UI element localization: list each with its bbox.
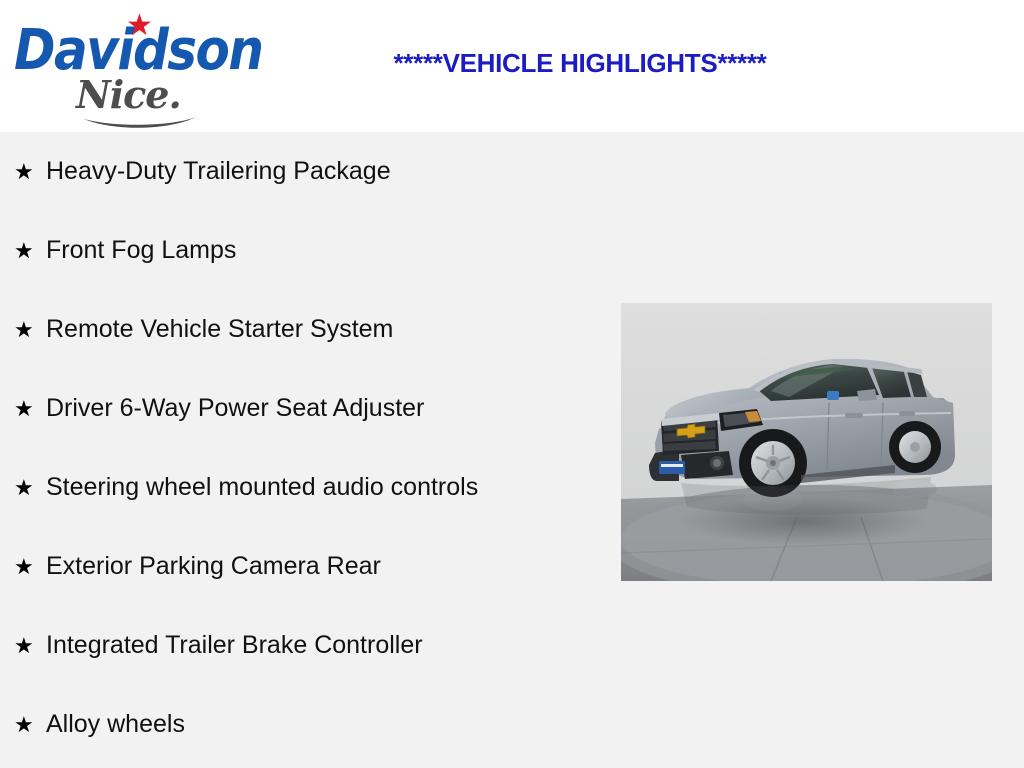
swoosh-underline-icon	[82, 115, 198, 131]
dealer-logo[interactable]: Davidson ★ Nice.	[14, 8, 274, 126]
star-bullet-icon: ★	[14, 685, 34, 764]
page-header: Davidson ★ Nice. *****VEHICLE HIGHLIGHTS…	[0, 0, 1024, 132]
star-bullet-icon: ★	[14, 448, 34, 527]
list-item-label: Remote Vehicle Starter System	[46, 315, 393, 343]
star-bullet-icon: ★	[14, 132, 34, 211]
list-item-label: Driver 6-Way Power Seat Adjuster	[46, 394, 424, 422]
list-item-label: Exterior Parking Camera Rear	[46, 552, 381, 580]
list-item: ★ Alloy wheels	[0, 685, 610, 764]
list-item-label: Front Fog Lamps	[46, 236, 236, 264]
star-bullet-icon: ★	[14, 369, 34, 448]
list-item-label: Heavy-Duty Trailering Package	[46, 157, 391, 185]
page-title: *****VEHICLE HIGHLIGHTS*****	[300, 48, 860, 79]
list-item: ★ Remote Vehicle Starter System	[0, 290, 610, 369]
star-icon: ★	[126, 11, 153, 41]
list-item: ★ Driver 6-Way Power Seat Adjuster	[0, 369, 610, 448]
star-bullet-icon: ★	[14, 527, 34, 606]
vehicle-highlights-page: Davidson ★ Nice. *****VEHICLE HIGHLIGHTS…	[0, 0, 1024, 768]
vehicle-photo	[621, 303, 992, 581]
star-bullet-icon: ★	[14, 290, 34, 369]
list-item: ★ Front Fog Lamps	[0, 211, 610, 290]
list-item-label: Alloy wheels	[46, 710, 185, 738]
star-bullet-icon: ★	[14, 606, 34, 685]
star-bullet-icon: ★	[14, 211, 34, 290]
list-item: ★ Exterior Parking Camera Rear	[0, 527, 610, 606]
list-item-label: Steering wheel mounted audio controls	[46, 473, 478, 501]
list-item-label: Integrated Trailer Brake Controller	[46, 631, 423, 659]
list-item: ★ Steering wheel mounted audio controls	[0, 448, 610, 527]
dealer-logo-script: Nice.	[76, 76, 181, 114]
vehicle-highlights-list: ★ Heavy-Duty Trailering Package ★ Front …	[0, 132, 610, 764]
list-item: ★ Heavy-Duty Trailering Package	[0, 132, 610, 211]
list-item: ★ Integrated Trailer Brake Controller	[0, 606, 610, 685]
page-content: ★ Heavy-Duty Trailering Package ★ Front …	[0, 132, 1024, 768]
